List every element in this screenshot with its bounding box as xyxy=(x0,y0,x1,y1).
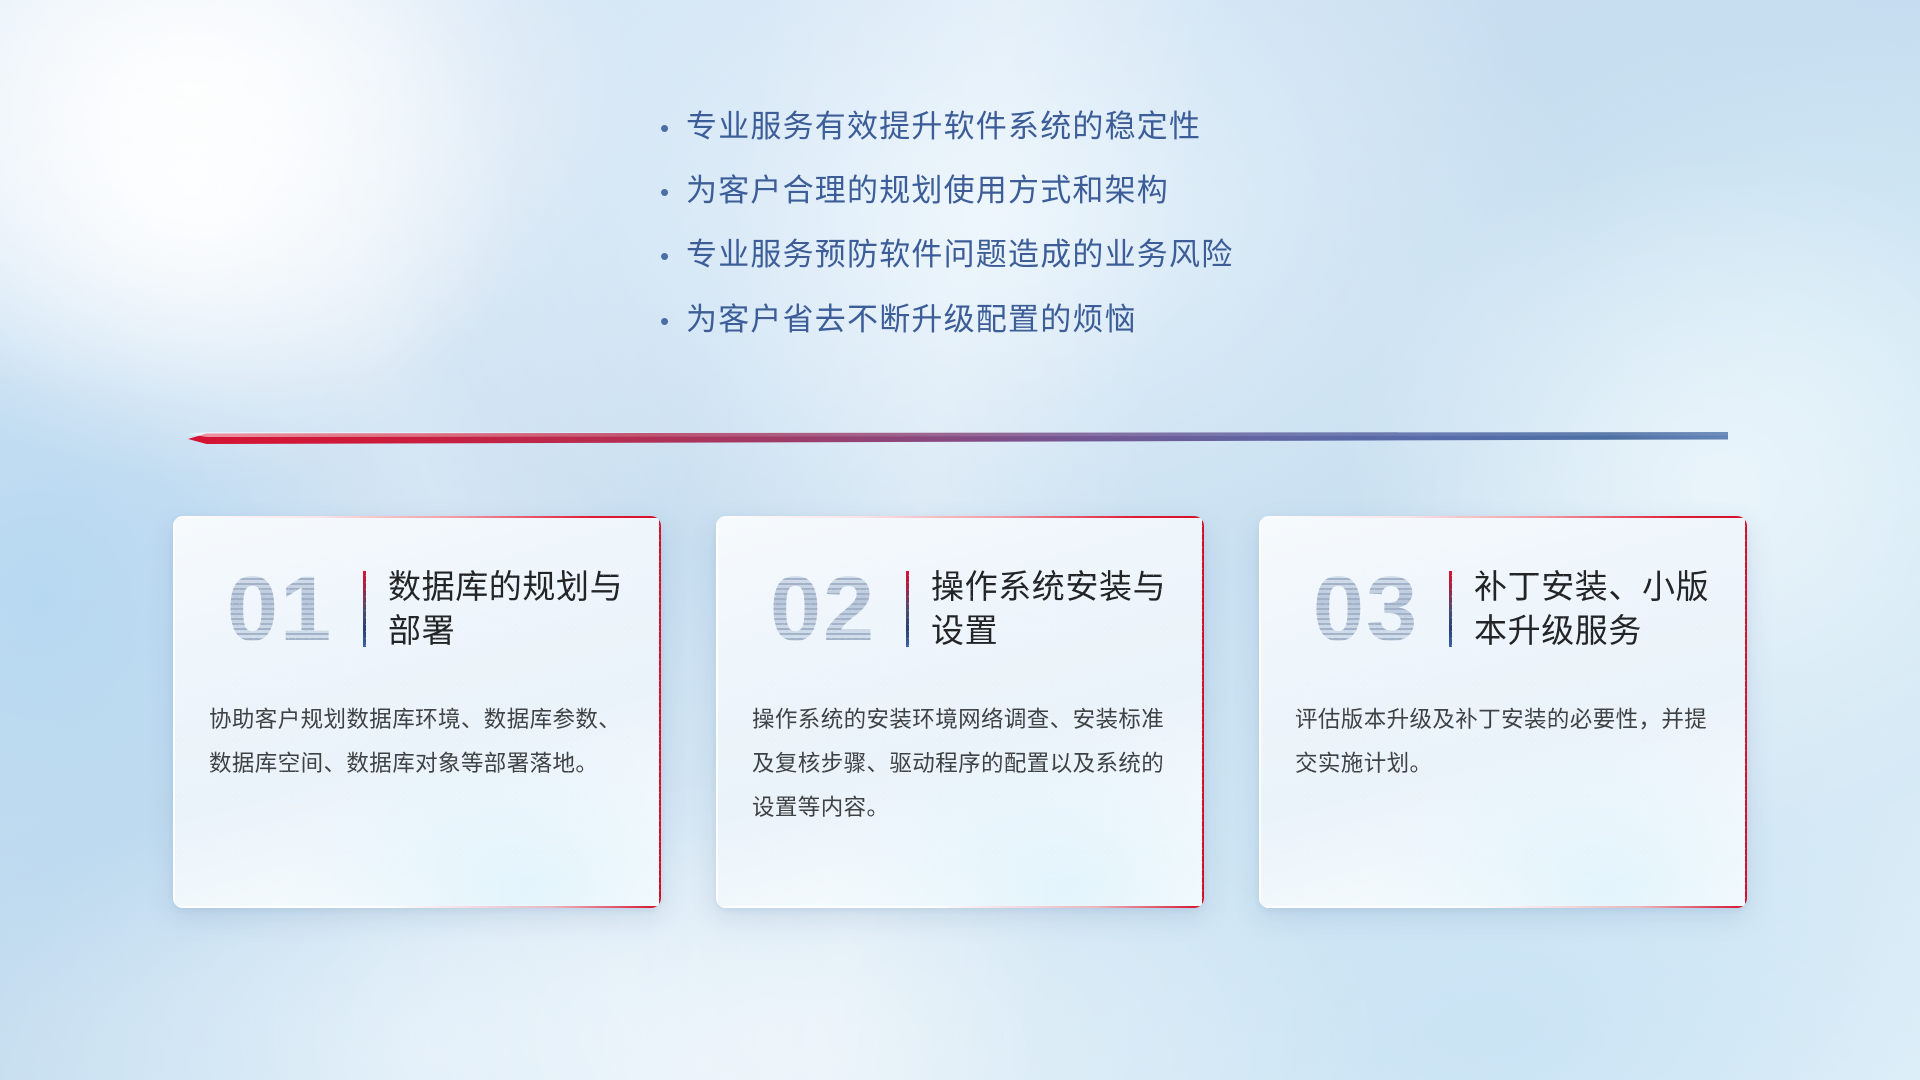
service-card-02[interactable]: 02 操作系统安装与设置 操作系统的安装环境网络调查、安装标准及复核步骤、驱动程… xyxy=(716,516,1204,908)
service-card-03[interactable]: 03 补丁安装、小版本升级服务 评估版本升级及补丁安装的必要性，并提交实施计划。 xyxy=(1259,516,1747,908)
list-item: • 为客户合理的规划使用方式和架构 xyxy=(660,172,1480,209)
card-number: 03 xyxy=(1289,563,1443,655)
card-divider-bar xyxy=(1449,571,1452,647)
service-card-row: 01 数据库的规划与部署 协助客户规划数据库环境、数据库参数、数据库空间、数据库… xyxy=(0,516,1920,908)
card-number: 02 xyxy=(746,563,900,655)
section-divider xyxy=(188,432,1728,444)
list-item: • 专业服务有效提升软件系统的稳定性 xyxy=(660,108,1480,145)
card-title: 数据库的规划与部署 xyxy=(388,565,631,652)
service-card-01[interactable]: 01 数据库的规划与部署 协助客户规划数据库环境、数据库参数、数据库空间、数据库… xyxy=(173,516,661,908)
card-divider-bar xyxy=(363,571,366,647)
divider-gloss xyxy=(188,432,1728,437)
benefits-bullet-list: • 专业服务有效提升软件系统的稳定性 • 为客户合理的规划使用方式和架构 • 专… xyxy=(660,108,1480,365)
card-body-text: 操作系统的安装环境网络调查、安装标准及复核步骤、驱动程序的配置以及系统的设置等内… xyxy=(716,664,1204,830)
background-glow-left xyxy=(0,0,540,500)
card-title: 操作系统安装与设置 xyxy=(931,565,1174,652)
bullet-text: 专业服务预防软件问题造成的业务风险 xyxy=(686,236,1233,273)
list-item: • 专业服务预防软件问题造成的业务风险 xyxy=(660,236,1480,273)
bullet-text: 为客户合理的规划使用方式和架构 xyxy=(686,172,1169,209)
slide-canvas: • 专业服务有效提升软件系统的稳定性 • 为客户合理的规划使用方式和架构 • 专… xyxy=(0,0,1920,1080)
bullet-dot-icon: • xyxy=(660,179,686,205)
card-number: 01 xyxy=(203,563,357,655)
card-header: 03 补丁安装、小版本升级服务 xyxy=(1259,516,1747,664)
card-header: 01 数据库的规划与部署 xyxy=(173,516,661,664)
bullet-dot-icon: • xyxy=(660,308,686,334)
card-divider-bar xyxy=(906,571,909,647)
bullet-text: 专业服务有效提升软件系统的稳定性 xyxy=(686,108,1201,145)
card-bottom-border xyxy=(173,906,661,908)
bullet-dot-icon: • xyxy=(660,115,686,141)
card-body-text: 评估版本升级及补丁安装的必要性，并提交实施计划。 xyxy=(1259,664,1747,786)
card-bottom-border xyxy=(716,906,1204,908)
bullet-dot-icon: • xyxy=(660,243,686,269)
bullet-text: 为客户省去不断升级配置的烦恼 xyxy=(686,301,1137,338)
card-header: 02 操作系统安装与设置 xyxy=(716,516,1204,664)
card-title: 补丁安装、小版本升级服务 xyxy=(1474,565,1717,652)
card-bottom-border xyxy=(1259,906,1747,908)
list-item: • 为客户省去不断升级配置的烦恼 xyxy=(660,301,1480,338)
card-body-text: 协助客户规划数据库环境、数据库参数、数据库空间、数据库对象等部署落地。 xyxy=(173,664,661,786)
divider-bar xyxy=(188,432,1728,444)
